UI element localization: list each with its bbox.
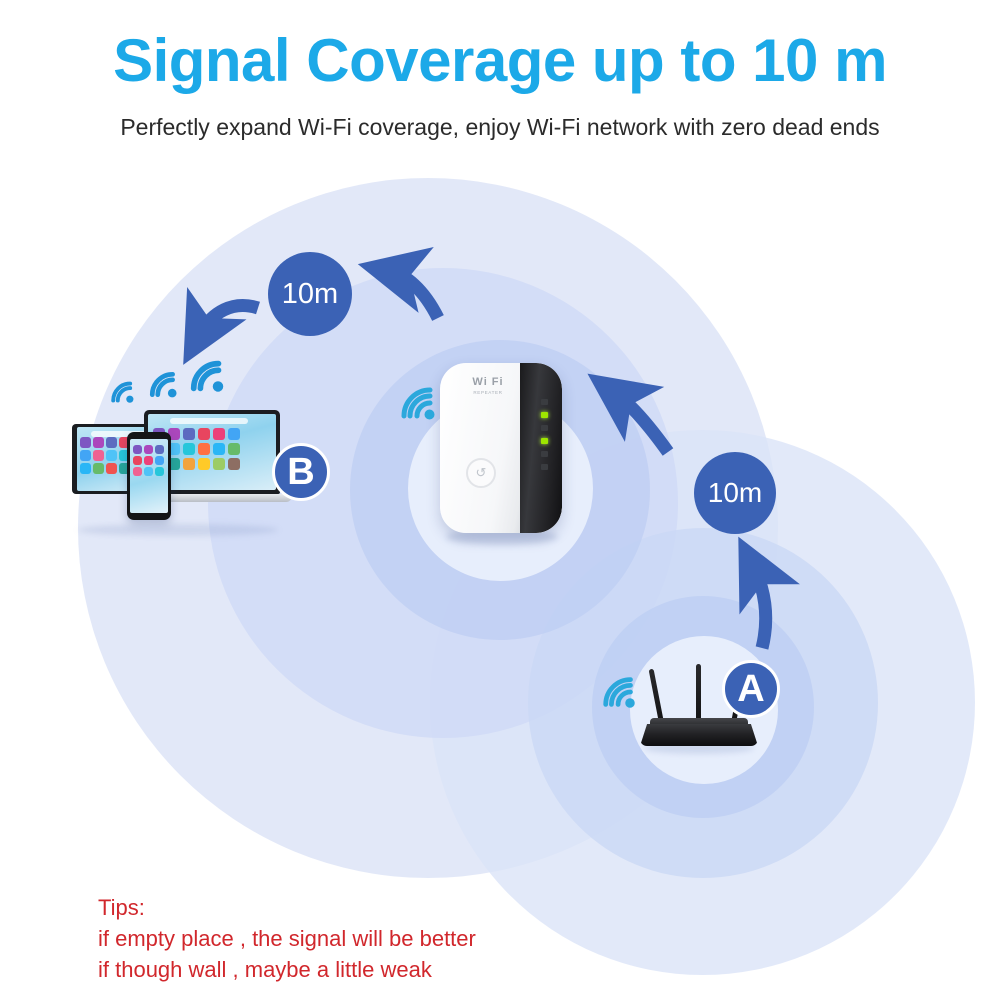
app-icon: [93, 437, 104, 448]
wifi-signal-icon: [396, 382, 442, 429]
app-icon: [213, 458, 225, 470]
app-icon: [80, 437, 91, 448]
app-icon: [228, 458, 240, 470]
smartphone-body: [127, 432, 171, 520]
smartphone-app-grid: [133, 445, 164, 476]
repeater-brand: Wi Fi REPEATER: [456, 377, 520, 395]
app-icon: [144, 467, 153, 476]
power-led: [541, 399, 548, 405]
infographic-page: Signal Coverage up to 10 m Perfectly exp…: [0, 0, 1000, 1000]
signal-led-1: [541, 412, 548, 418]
app-icon: [133, 456, 142, 465]
tips-line-1: if empty place , the signal will be bett…: [98, 923, 476, 954]
app-icon: [106, 463, 117, 474]
wifi-signal-icon: [598, 672, 642, 717]
repeater-body: Wi Fi REPEATER ↺: [440, 363, 562, 533]
app-icon: [183, 458, 195, 470]
wifi-signal-icon: [108, 378, 138, 411]
app-icon: [155, 445, 164, 454]
distance-badge-left: 10m: [268, 252, 352, 336]
repeater-brand-label: Wi Fi: [456, 377, 520, 388]
wifi-led: [541, 425, 548, 431]
router-base: [640, 724, 758, 746]
app-icon: [183, 443, 195, 455]
app-icon: [213, 428, 225, 440]
tips-line-2: if though wall , maybe a little weak: [98, 954, 476, 985]
lan-led: [541, 464, 548, 470]
client-devices-group: [72, 398, 282, 533]
app-icon: [198, 428, 210, 440]
app-icon: [155, 467, 164, 476]
app-icon: [198, 458, 210, 470]
distance-badge-right: 10m: [694, 452, 776, 534]
app-icon: [228, 428, 240, 440]
app-icon: [228, 443, 240, 455]
app-icon: [93, 450, 104, 461]
app-icon: [144, 456, 153, 465]
coverage-diagram: Wi Fi REPEATER ↺: [0, 0, 1000, 1000]
point-badge-a: A: [722, 660, 780, 718]
laptop-topbar: [170, 418, 248, 424]
wifi-signal-icon: [186, 356, 230, 401]
signal-led-2: [541, 438, 548, 444]
app-icon: [183, 428, 195, 440]
app-icon: [198, 443, 210, 455]
smartphone-screen: [130, 439, 168, 513]
smartphone-device: [127, 432, 171, 520]
app-icon: [106, 450, 117, 461]
wifi-repeater-device: Wi Fi REPEATER ↺: [440, 363, 562, 533]
devices-shadow: [78, 524, 278, 536]
app-icon: [80, 463, 91, 474]
repeater-led-panel: [541, 399, 548, 470]
tips-block: Tips: if empty place , the signal will b…: [98, 892, 476, 985]
wps-led: [541, 451, 548, 457]
tips-heading: Tips:: [98, 892, 476, 923]
app-icon: [213, 443, 225, 455]
app-icon: [155, 456, 164, 465]
app-icon: [144, 445, 153, 454]
repeater-brand-sublabel: REPEATER: [456, 390, 520, 395]
app-icon: [106, 437, 117, 448]
app-icon: [93, 463, 104, 474]
wps-button-icon[interactable]: ↺: [466, 458, 496, 488]
wifi-signal-icon: [146, 368, 182, 406]
app-icon: [133, 445, 142, 454]
app-icon: [133, 467, 142, 476]
point-badge-b: B: [272, 443, 330, 501]
app-icon: [80, 450, 91, 461]
